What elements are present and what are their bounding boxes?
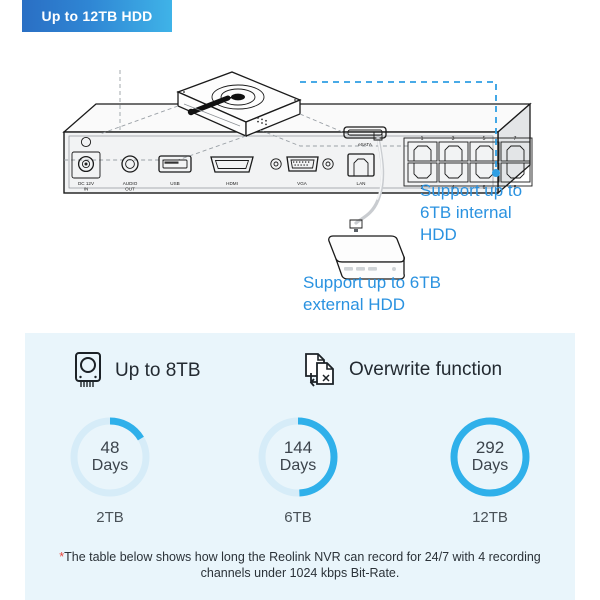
svg-text:LAN: LAN xyxy=(357,181,366,186)
donut-value-6tb: 144 xyxy=(284,439,312,457)
svg-text:AUDIO: AUDIO xyxy=(123,181,138,186)
banner-label: Up to 12TB HDD xyxy=(42,8,153,24)
recording-days-gauges: 48 Days 2TB 144 Days 6TB xyxy=(25,413,575,538)
svg-text:VGA: VGA xyxy=(297,181,308,186)
donut-center-12tb: 292 Days xyxy=(446,413,534,501)
gauge-caption-12tb: 12TB xyxy=(425,509,555,526)
gauge-caption-6tb: 6TB xyxy=(233,509,363,526)
gauge-2tb: 48 Days 2TB xyxy=(45,413,175,526)
svg-text:OUT: OUT xyxy=(125,187,135,192)
donut-unit-12tb: Days xyxy=(472,457,508,475)
svg-text:7: 7 xyxy=(514,136,517,142)
donut-chart-2tb: 48 Days xyxy=(66,413,154,501)
footnote: *The table below shows how long the Reol… xyxy=(55,549,545,581)
hard-drive-icon xyxy=(73,351,103,391)
svg-text:DC 12V: DC 12V xyxy=(78,181,95,186)
svg-text:HDMI: HDMI xyxy=(226,181,238,186)
donut-center-6tb: 144 Days xyxy=(254,413,342,501)
donut-value-2tb: 48 xyxy=(101,439,120,457)
callout-internal-hdd: Support up to 6TB internal HDD xyxy=(420,180,550,246)
feature-overwrite: Overwrite function xyxy=(303,351,502,389)
donut-center-2tb: 48 Days xyxy=(66,413,154,501)
callout-external-hdd: Support up to 6TB external HDD xyxy=(303,272,503,316)
footnote-text: The table below shows how long the Reoli… xyxy=(64,550,541,580)
donut-chart-12tb: 292 Days xyxy=(446,413,534,501)
feature-label-overwrite: Overwrite function xyxy=(349,359,502,381)
page-root: Up to 12TB HDD .ln{fill:none;stroke:#1a1… xyxy=(0,0,600,600)
gauge-12tb: 292 Days 12TB xyxy=(425,413,555,526)
feature-up-to-8tb: Up to 8TB xyxy=(73,351,201,391)
gauge-caption-2tb: 2TB xyxy=(45,509,175,526)
banner-up-to-12tb: Up to 12TB HDD xyxy=(22,0,172,32)
specs-panel: Up to 8TB xyxy=(25,333,575,600)
overwrite-pages-icon xyxy=(303,351,337,389)
donut-unit-2tb: Days xyxy=(92,457,128,475)
svg-text:USB: USB xyxy=(170,181,179,186)
svg-text:eSATA: eSATA xyxy=(358,142,373,147)
svg-text:5: 5 xyxy=(483,136,486,142)
feature-label-capacity: Up to 8TB xyxy=(115,360,201,382)
donut-chart-6tb: 144 Days xyxy=(254,413,342,501)
svg-text:1: 1 xyxy=(421,136,424,142)
svg-text:3: 3 xyxy=(452,136,455,142)
svg-text:IN: IN xyxy=(84,187,89,192)
donut-unit-6tb: Days xyxy=(280,457,316,475)
feature-row: Up to 8TB xyxy=(25,349,575,399)
gauge-6tb: 144 Days 6TB xyxy=(233,413,363,526)
donut-value-12tb: 292 xyxy=(476,439,504,457)
